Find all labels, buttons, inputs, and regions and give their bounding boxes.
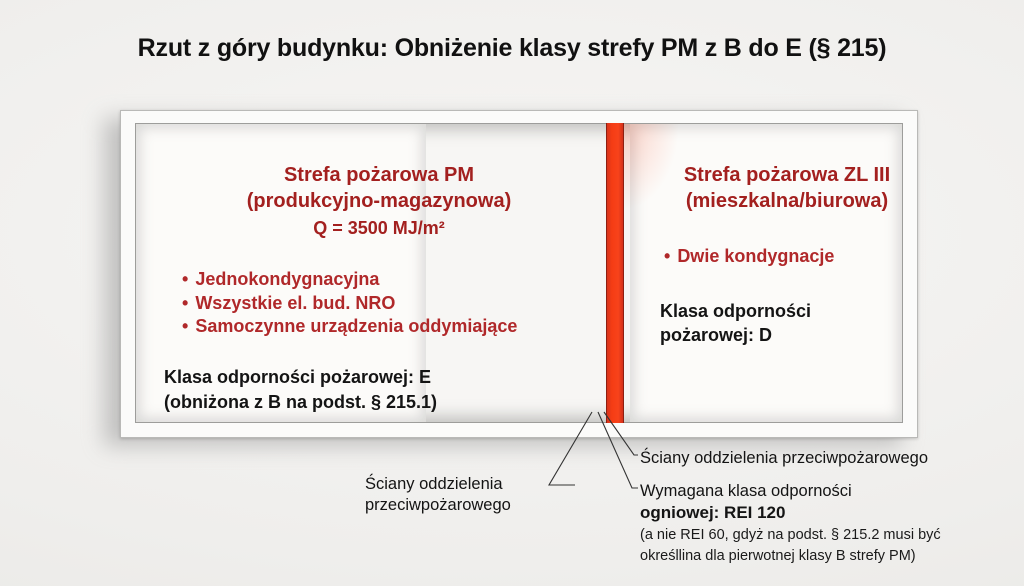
callout-right-rei-class: Wymagana klasa odporności ogniowej: REI … <box>640 481 1010 566</box>
zone-label-zl3: Strefa pożarowa ZL III (mieszkalna/biuro… <box>642 162 932 348</box>
building-inner-cavity: Strefa pożarowa PM (produkcyjno-magazyno… <box>135 123 903 423</box>
list-item: Dwie kondygnacje <box>664 245 932 269</box>
list-item: Samoczynne urządzenia oddymiające <box>182 315 594 339</box>
callout-right-fire-walls: Ściany oddzielenia przeciwpożarowego <box>640 448 1000 469</box>
zone-label-pm: Strefa pożarowa PM (produkcyjno-magazyno… <box>164 162 594 415</box>
building-outer-wall: Strefa pożarowa PM (produkcyjno-magazyno… <box>120 110 918 438</box>
callout-left-fire-walls: Ściany oddzielenia przeciwpożarowego <box>365 474 580 516</box>
callout-rei-line-1: Wymagana klasa odporności <box>640 481 1010 502</box>
callout-left-line-1: Ściany oddzielenia <box>365 474 580 495</box>
zone-zl3-bullet-list: Dwie kondygnacje <box>664 245 932 269</box>
zone-pm-title: Strefa pożarowa PM <box>164 162 594 188</box>
callout-rei-paren-2: określlina dla pierwotnej klasy B strefy… <box>640 547 1010 566</box>
callout-rei-value: ogniowej: REI 120 <box>640 502 1010 524</box>
list-item: Wszystkie el. bud. NRO <box>182 292 594 316</box>
zone-zl3-class-line-2: pożarowej: D <box>660 323 932 348</box>
zone-zl3-class-note: Klasa odporności pożarowej: D <box>660 299 932 349</box>
zone-zl3-class-line-1: Klasa odporności <box>660 299 932 324</box>
building-floor-plan: Strefa pożarowa PM (produkcyjno-magazyno… <box>120 110 918 438</box>
list-item: Jednokondygnacyjna <box>182 268 594 292</box>
zone-pm-class-note: Klasa odporności pożarowej: E (obniżona … <box>164 365 594 415</box>
fire-separation-wall <box>606 123 624 423</box>
zone-pm-density: Q = 3500 MJ/m² <box>164 216 594 241</box>
zone-zl3-title: Strefa pożarowa ZL III <box>642 162 932 188</box>
zone-zl3-subtitle: (mieszkalna/biurowa) <box>642 188 932 214</box>
zone-pm-class-line-2: (obniżona z B na podst. § 215.1) <box>164 390 594 415</box>
callout-right-top-text: Ściany oddzielenia przeciwpożarowego <box>640 448 1000 469</box>
zone-pm-bullet-list: Jednokondygnacyjna Wszystkie el. bud. NR… <box>182 268 594 339</box>
callout-rei-paren-1: (a nie REI 60, gdyż na podst. § 215.2 mu… <box>640 526 1010 545</box>
page-title: Rzut z góry budynku: Obniżenie klasy str… <box>0 34 1024 63</box>
zone-pm-subtitle: (produkcyjno-magazynowa) <box>164 188 594 214</box>
callout-left-line-2: przeciwpożarowego <box>365 495 580 516</box>
zone-pm-class-line-1: Klasa odporności pożarowej: E <box>164 365 594 390</box>
